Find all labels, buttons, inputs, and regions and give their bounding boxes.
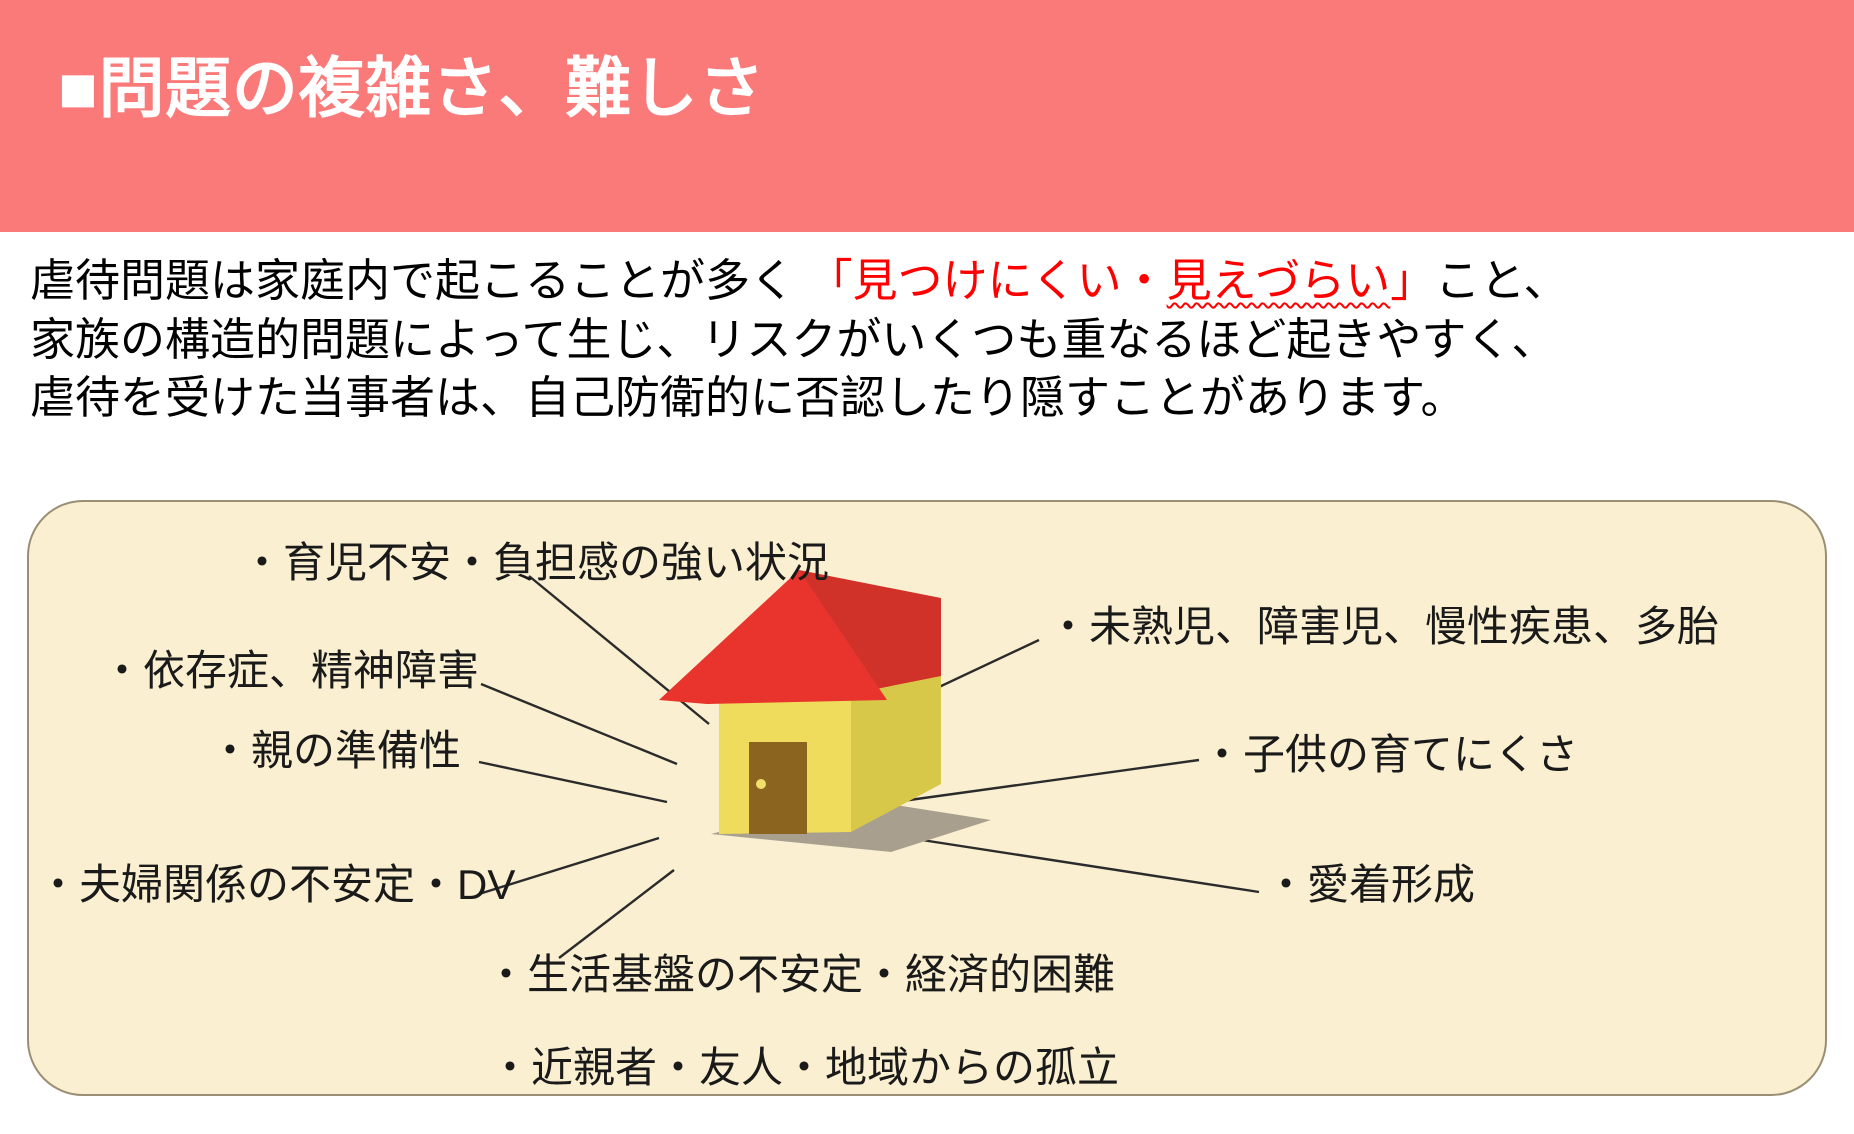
- intro-line-1-pre: 虐待問題は家庭内で起こることが多く: [30, 255, 808, 306]
- header-banner: ■問題の複雑さ、難しさ: [0, 0, 1854, 232]
- intro-line-1-post: こと、: [1435, 255, 1568, 306]
- diagram-label-attachment-formation: ・愛着形成: [1265, 864, 1475, 906]
- intro-line-1: 虐待問題は家庭内で起こることが多く 「見つけにくい・見えづらい」こと、: [30, 252, 1730, 311]
- risk-factors-diagram-panel: ・育児不安・負担感の強い状況 ・依存症、精神障害 ・親の準備性 ・夫婦関係の不安…: [27, 500, 1827, 1096]
- intro-highlight-wavy: 見えづらい: [1167, 255, 1391, 306]
- diagram-label-difficult-to-raise: ・子供の育てにくさ: [1201, 734, 1578, 776]
- intro-highlight-open: 「見つけにくい・: [808, 255, 1167, 306]
- diagram-label-marital-instability-dv: ・夫婦関係の不安定・DV: [37, 864, 515, 906]
- page-title: ■問題の複雑さ、難しさ: [58, 52, 765, 125]
- diagram-label-social-isolation: ・近親者・友人・地域からの孤立: [489, 1047, 1119, 1089]
- intro-paragraph: 虐待問題は家庭内で起こることが多く 「見つけにくい・見えづらい」こと、 家族の構…: [30, 252, 1730, 428]
- house-doorknob: [756, 779, 766, 789]
- diagram-label-addiction-mental-illness: ・依存症、精神障害: [101, 650, 479, 692]
- diagram-label-parental-readiness: ・親の準備性: [209, 730, 461, 772]
- diagram-label-livelihood-instability: ・生活基盤の不安定・経済的困難: [485, 954, 1115, 996]
- intro-line-2: 家族の構造的問題によって生じ、リスクがいくつも重なるほど起きやすく、: [30, 311, 1730, 370]
- intro-highlight-close: 」: [1390, 255, 1435, 306]
- house-door: [749, 742, 807, 834]
- diagram-label-parenting-anxiety: ・育児不安・負担感の強い状況: [241, 542, 829, 584]
- house-icon: [641, 552, 1021, 892]
- diagram-label-preterm-disability-illness: ・未熟児、障害児、慢性疾患、多胎: [1047, 606, 1719, 648]
- intro-line-3: 虐待を受けた当事者は、自己防衛的に否認したり隠すことがあります。: [30, 369, 1730, 428]
- connector-line-readiness: [479, 762, 667, 802]
